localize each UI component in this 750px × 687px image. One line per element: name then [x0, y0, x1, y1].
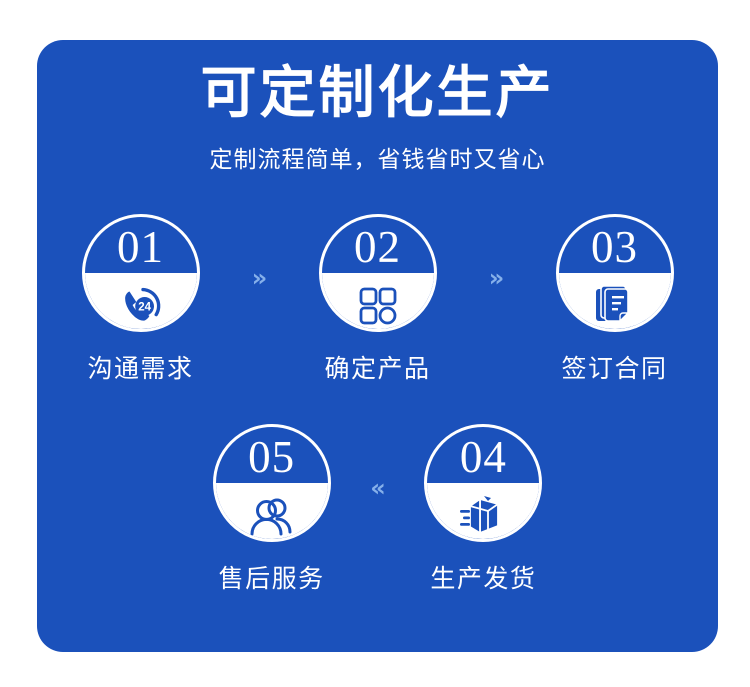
step-01-number: 01 [85, 221, 197, 273]
step-01[interactable]: 01 24 沟通需求 [53, 214, 228, 385]
step-02[interactable]: 02 确定产品 [290, 214, 465, 385]
step-01-label: 沟通需求 [87, 349, 193, 385]
step-05-number: 05 [216, 431, 328, 483]
phone-24h-icon: 24 [85, 276, 197, 332]
step-03[interactable]: 03 签订合同 [527, 214, 702, 385]
document-contract-icon [559, 276, 671, 332]
flow-arrow-right-2: » [465, 266, 527, 290]
step-02-circle: 02 [319, 214, 437, 332]
step-05-label: 售后服务 [219, 559, 325, 595]
flow-arrow-left-1: « [350, 476, 405, 500]
step-05-circle: 05 [213, 424, 331, 542]
step-03-label: 签订合同 [561, 349, 667, 385]
step-04-label: 生产发货 [430, 559, 536, 595]
step-05[interactable]: 05 售后服务 [193, 424, 349, 595]
page-subtitle: 定制流程简单，省钱省时又省心 [37, 140, 718, 174]
grid-squares-icon [322, 276, 434, 332]
promo-graphic-root: 可定制化生产 定制流程简单，省钱省时又省心 01 24 [0, 0, 750, 687]
flow-row-2: 05 售后服务 « 04 [37, 424, 718, 595]
step-03-circle: 03 [556, 214, 674, 332]
page-title: 可定制化生产 [37, 64, 718, 123]
step-02-label: 确定产品 [324, 349, 430, 385]
svg-text:24: 24 [138, 301, 151, 313]
step-01-circle: 01 24 [82, 214, 200, 332]
step-04[interactable]: 04 [405, 424, 561, 595]
step-04-circle: 04 [424, 424, 542, 542]
shipping-box-icon [427, 486, 539, 542]
step-04-number: 04 [427, 431, 539, 483]
flow-arrow-right-1: » [228, 266, 290, 290]
flow-row-1: 01 24 沟通需求 » 02 [37, 214, 718, 385]
header-block: 可定制化生产 定制流程简单，省钱省时又省心 [37, 64, 718, 174]
step-03-number: 03 [559, 221, 671, 273]
users-icon [216, 486, 328, 542]
blue-panel: 可定制化生产 定制流程简单，省钱省时又省心 01 24 [37, 40, 718, 652]
step-02-number: 02 [322, 221, 434, 273]
